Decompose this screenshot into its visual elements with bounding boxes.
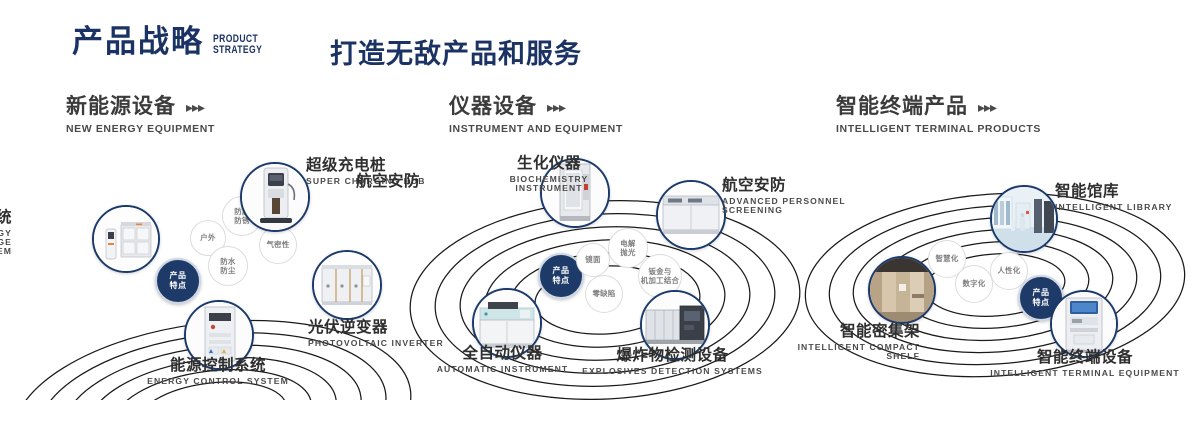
label-intelligent-compact-shelf: 智能密集架 INTELLIGENT COMPACT SHELF [760,324,920,361]
title-chinese: 产品战略 [72,26,204,57]
cluster-instrument: 产品 特点 镜面 电解 抛光 钣金与 机加工结合 零缺陷 航空安防 生化仪器 B… [400,150,820,400]
label-aviation-security: 航空安防 [320,174,420,190]
node-intelligent-compact-shelf[interactable] [868,256,936,324]
page-title: 产品战略 PRODUCT STRATEGY [72,26,276,57]
section-header-new-energy: 新能源设备 ▸▸▸ NEW ENERGY EQUIPMENT [66,96,215,135]
node-photovoltaic-inverter[interactable] [312,250,382,320]
inverter-cabinet-image [314,252,380,318]
feature-bubble: 镜面 [576,243,610,277]
library-interior-image [992,187,1056,251]
chevron-right-icon: ▸▸▸ [547,100,565,114]
feature-bubble: 防水 防尘 [208,246,248,286]
section-header-instrument: 仪器设备 ▸▸▸ INSTRUMENT AND EQUIPMENT [449,96,623,135]
node-advanced-personnel-screening[interactable] [656,180,726,250]
title-english: PRODUCT STRATEGY [213,34,262,55]
cluster-intelligent-terminal: 智慧化 数字化 人性化 产品 特点 智能馆库 I [800,150,1200,400]
node-intelligent-terminal-equipment[interactable] [1050,290,1118,358]
chevron-right-icon: ▸▸▸ [978,100,996,114]
label-explosives-detection-systems: 爆炸物检测设备 EXPLOSIVES DETECTION SYSTEMS [565,348,780,376]
feature-center-bubble: 产品 特点 [155,258,201,304]
self-service-kiosk-image [1052,292,1116,356]
label-energy-control-system: 能源控制系统 ENERGY CONTROL SYSTEM [88,358,348,386]
label-intelligent-library: 智能馆库 INTELLIGENT LIBRARY [1055,184,1200,212]
chevron-right-icon: ▸▸▸ [186,100,204,114]
screening-machine-image [658,182,724,248]
node-intelligent-library[interactable] [990,185,1058,253]
section-title-cn: 智能终端产品 [836,96,968,117]
feature-bubble: 零缺陷 [585,275,623,313]
page-subtitle: 打造无敌产品和服务 [330,32,582,71]
label-intelligent-terminal-equipment: 智能终端设备 INTELLIGENT TERMINAL EQUIPMENT [985,350,1185,378]
section-title-cn: 仪器设备 [449,96,537,117]
section-header-intelligent-terminal: 智能终端产品 ▸▸▸ INTELLIGENT TERMINAL PRODUCTS [836,96,1041,135]
section-title-en: NEW ENERGY EQUIPMENT [66,123,215,135]
label-biochemistry-instrument: 生化仪器 BIOCHEMISTRY INSTRUMENT [484,156,614,193]
energy-storage-cabinet-image [94,207,158,271]
section-title-cn: 新能源设备 [66,96,176,117]
product-strategy-infographic: 产品战略 PRODUCT STRATEGY 打造无敌产品和服务 新能源设备 ▸▸… [0,0,1200,422]
section-title-en: INTELLIGENT TERMINAL PRODUCTS [836,123,1041,135]
node-energy-storage-system[interactable] [92,205,160,273]
feature-bubble: 数字化 [955,265,993,303]
charging-pile-image [242,164,308,230]
label-energy-storage-system: 储能系统 ENERGY STORAGE SYSTEM [0,210,12,256]
node-super-charging-hub[interactable] [240,162,310,232]
compact-shelf-image [870,258,934,322]
section-title-en: INSTRUMENT AND EQUIPMENT [449,123,623,135]
